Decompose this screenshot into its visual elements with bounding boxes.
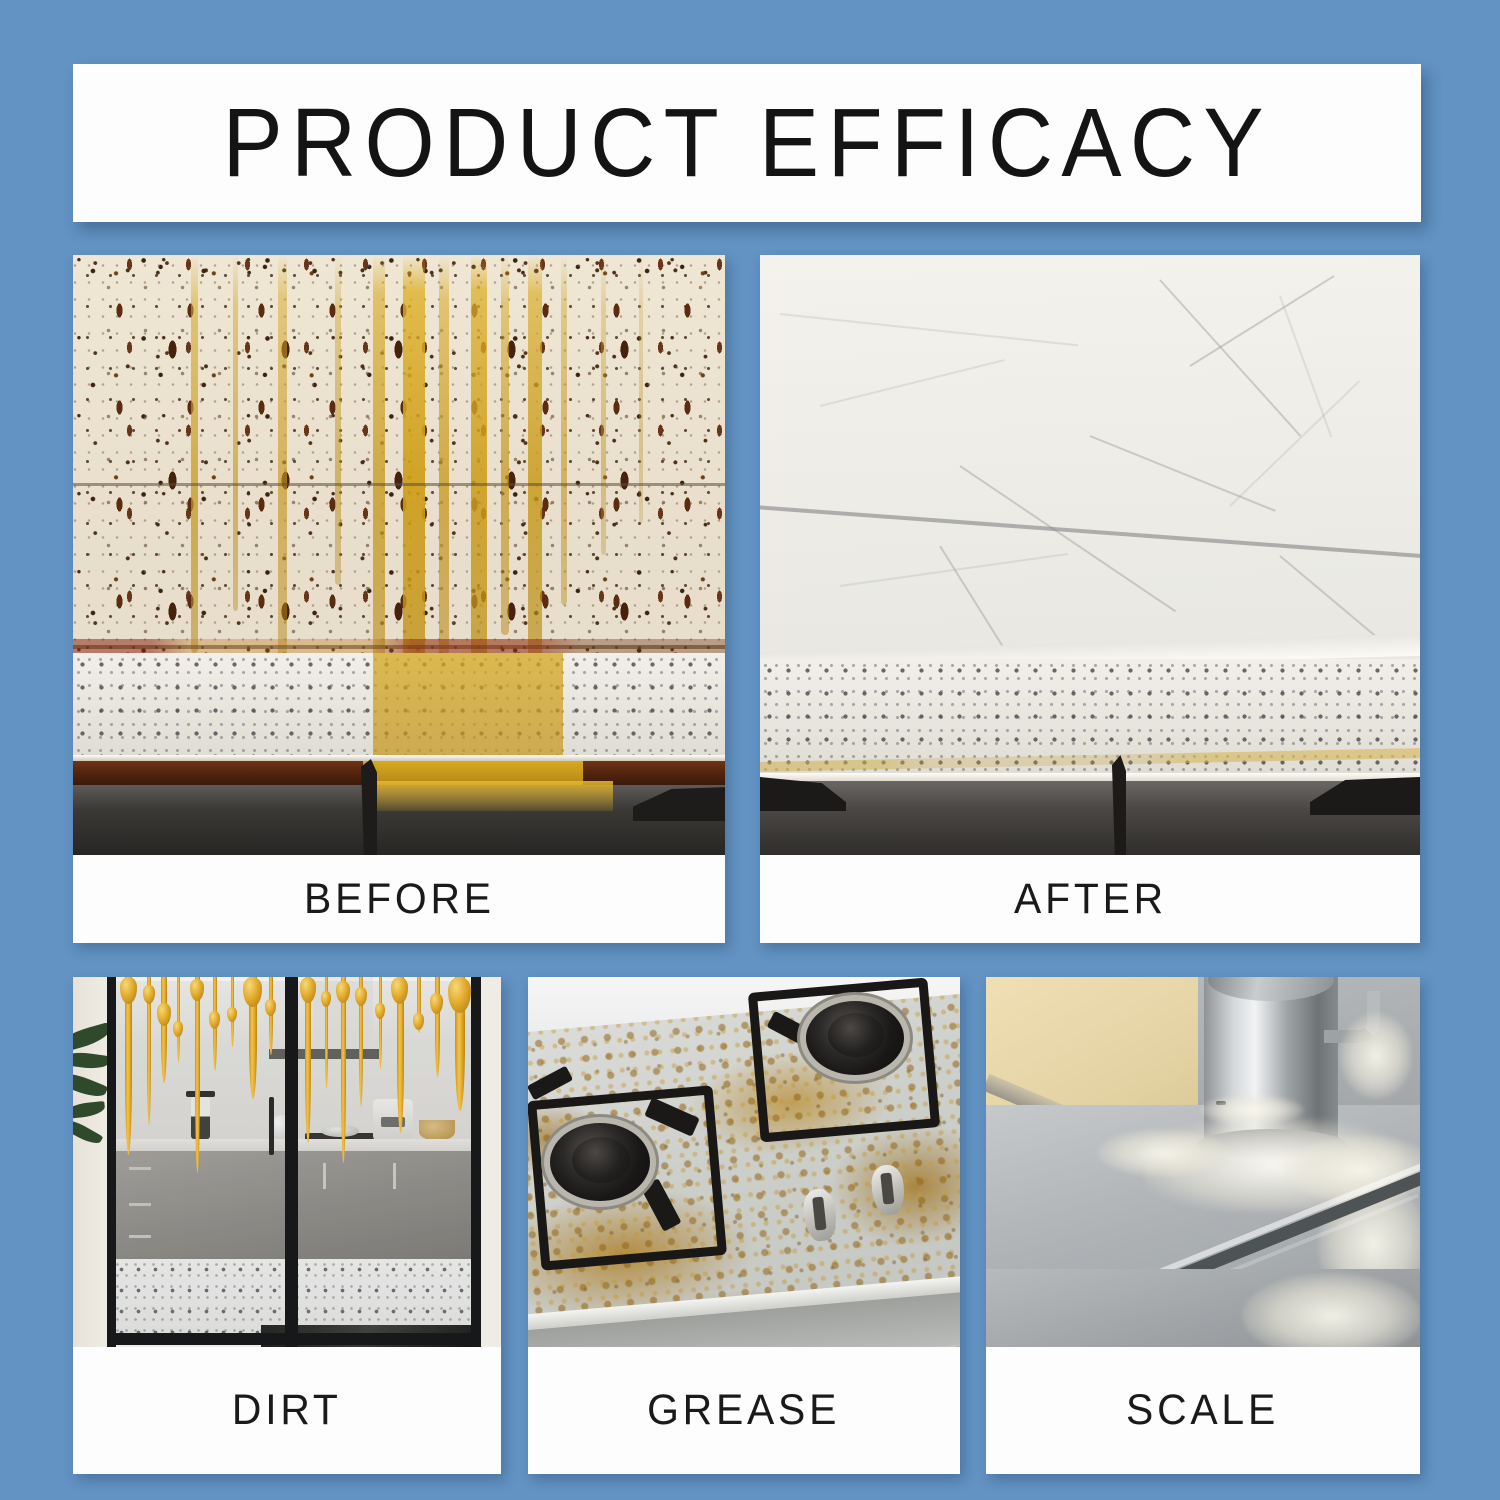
after-caption: AFTER — [760, 855, 1420, 943]
limescale-patch — [1098, 1129, 1228, 1177]
door-handle — [269, 1097, 274, 1155]
scale-photo — [986, 977, 1420, 1347]
burner-cap-right — [828, 1013, 884, 1057]
dirt-caption-label: DIRT — [232, 1386, 342, 1435]
glass-pane-right — [297, 981, 473, 1341]
rust-stain-band — [73, 639, 725, 653]
honey-drip — [161, 977, 167, 1083]
grease-drip — [528, 255, 542, 680]
grease-photo — [528, 977, 960, 1347]
grease-drip — [561, 255, 567, 605]
before-photo — [73, 255, 725, 855]
door-frame-middle — [285, 977, 298, 1347]
grease-drip — [373, 255, 385, 685]
stove-grease — [373, 781, 613, 811]
door-frame-left — [107, 977, 116, 1347]
honey-drip — [177, 977, 180, 1063]
limescale-patch — [1340, 1013, 1412, 1099]
grease-caption: GREASE — [528, 1347, 960, 1474]
countertop-stain — [373, 653, 563, 761]
dirt-caption: DIRT — [73, 1347, 501, 1474]
scale-caption: SCALE — [986, 1347, 1420, 1474]
grease-drip — [233, 255, 238, 611]
honey-drip — [435, 977, 440, 1077]
grease-drip — [471, 255, 487, 695]
honey-drip — [195, 977, 200, 1173]
before-caption-label: BEFORE — [304, 875, 495, 924]
limescale-patch — [1200, 1095, 1304, 1125]
scale-panel: SCALE — [986, 977, 1420, 1474]
honey-drip — [269, 977, 273, 1055]
wall-grout-line — [73, 483, 725, 486]
after-caption-label: AFTER — [1014, 875, 1167, 924]
grease-drip — [335, 255, 341, 585]
knob-indicator — [812, 1197, 826, 1230]
grease-drip-group — [73, 255, 725, 675]
grease-drip — [191, 255, 198, 653]
glass-pane-left — [115, 981, 285, 1341]
door-frame-bottom — [107, 1333, 481, 1345]
after-photo — [760, 255, 1420, 855]
page-title: PRODUCT EFFICACY — [222, 87, 1271, 199]
dirt-photo — [73, 977, 501, 1347]
grease-drip — [278, 255, 287, 667]
grease-drip — [601, 255, 606, 555]
before-caption: BEFORE — [73, 855, 725, 943]
scale-caption-label: SCALE — [1127, 1386, 1280, 1435]
grease-caption-label: GREASE — [647, 1386, 840, 1435]
grease-drip — [439, 255, 449, 663]
page-title-card: PRODUCT EFFICACY — [73, 64, 1421, 222]
honey-drip — [341, 977, 346, 1163]
door-frame-right — [471, 977, 481, 1347]
honey-drip — [379, 977, 382, 1069]
grease-panel: GREASE — [528, 977, 960, 1474]
limescale-patch — [1242, 1273, 1420, 1347]
after-panel: AFTER — [760, 255, 1420, 943]
burner-cap-left — [572, 1137, 630, 1183]
before-panel: BEFORE — [73, 255, 725, 943]
after-stove-surface — [760, 781, 1420, 855]
dirt-panel: DIRT — [73, 977, 501, 1474]
grease-drip — [501, 255, 509, 635]
knob-indicator — [880, 1173, 894, 1205]
